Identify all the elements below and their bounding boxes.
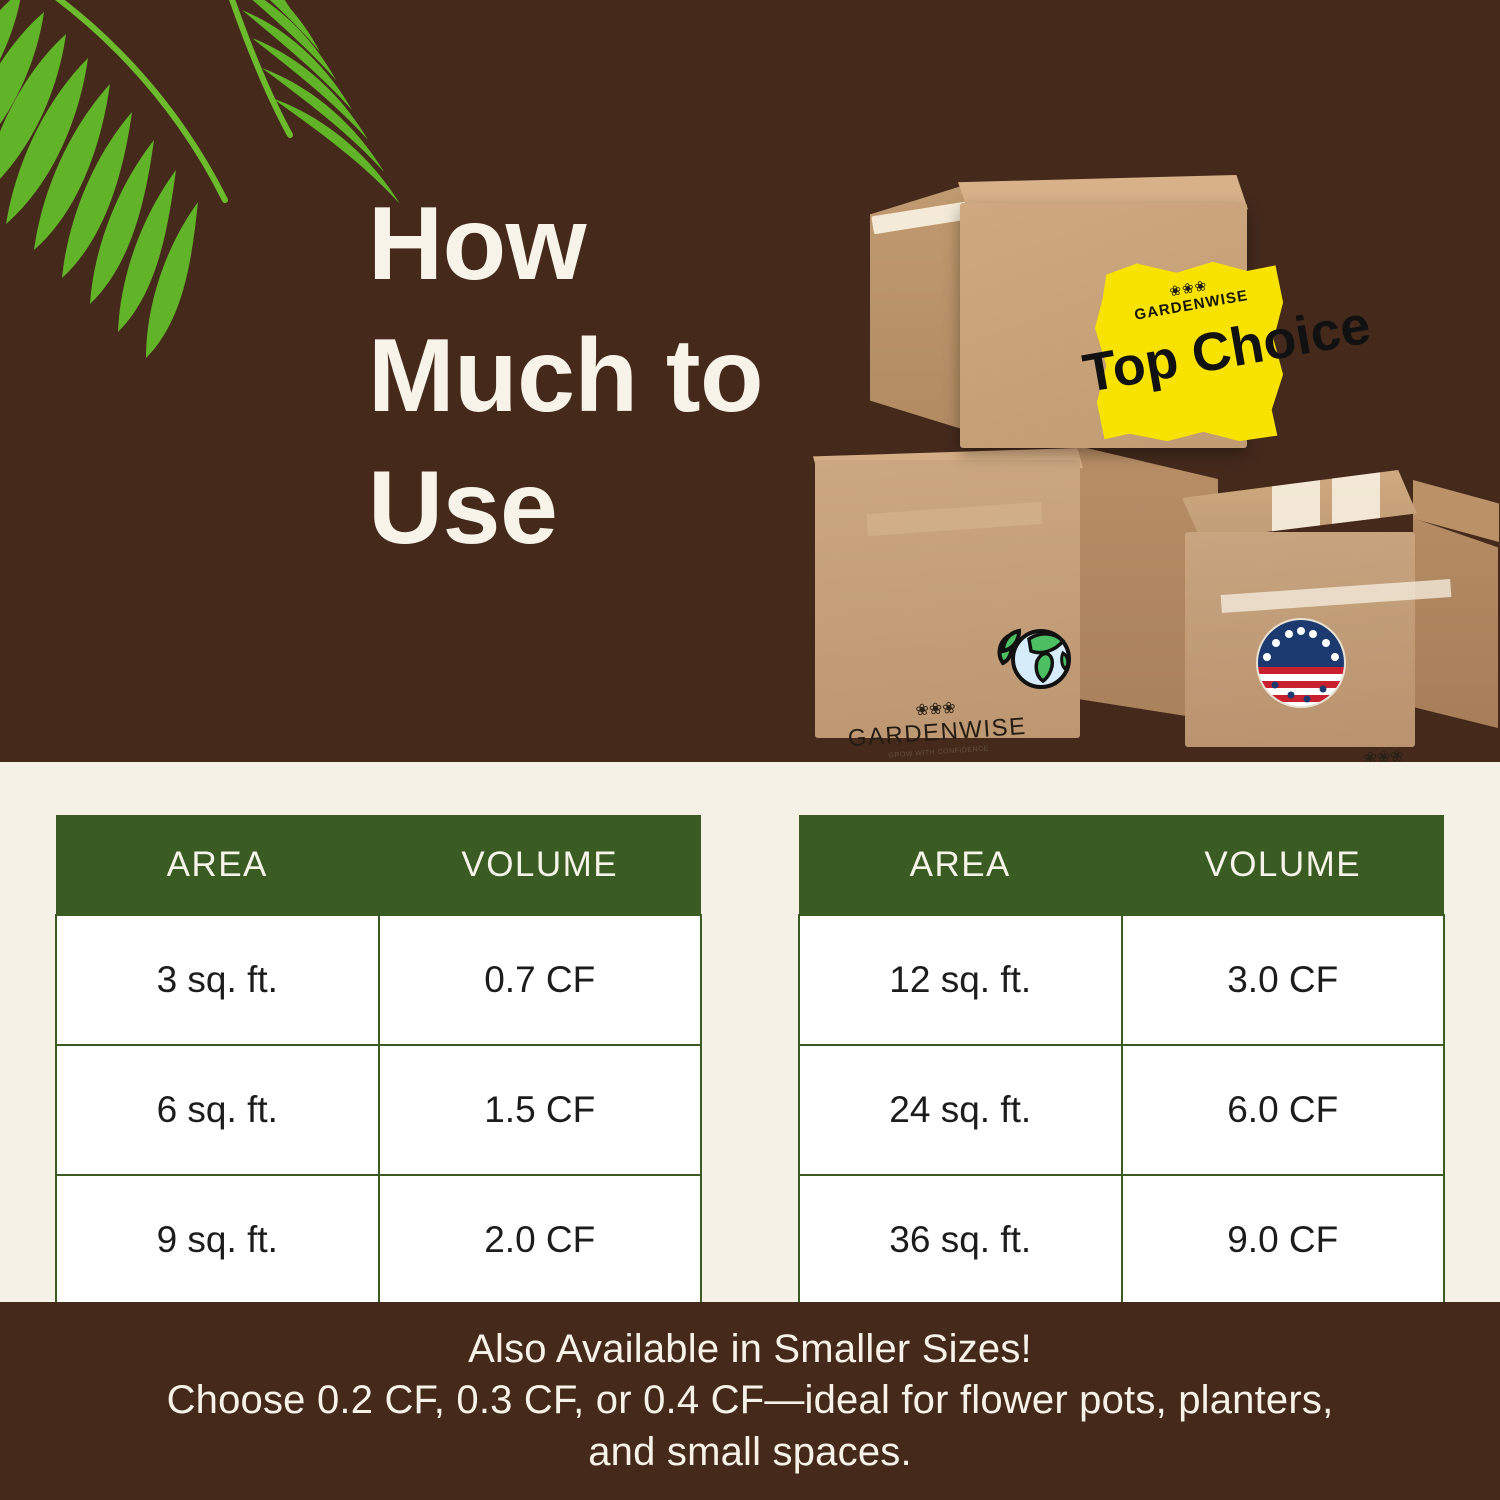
table-row: 36 sq. ft. 9.0 CF (799, 1175, 1444, 1305)
cell-volume: 2.0 CF (379, 1175, 702, 1305)
cell-area: 12 sq. ft. (799, 915, 1122, 1045)
table-row: 3 sq. ft. 0.7 CF (56, 915, 701, 1045)
top-shipping-box: ❀❀❀ GARDENWISE Top Choice (870, 165, 1270, 455)
cell-area: 9 sq. ft. (56, 1175, 379, 1305)
box-lid-face (1182, 470, 1417, 540)
page-title: How Much to Use (368, 178, 788, 574)
box-front-face: ❀❀❀ GARDENWISE GROW WITH CONFIDENCE (815, 460, 1080, 738)
column-header-volume: VOLUME (1122, 815, 1445, 915)
footer-banner: Also Available in Smaller Sizes! Choose … (0, 1302, 1500, 1500)
seedling-icon: ❀❀❀ (1303, 744, 1464, 762)
table-row: 6 sq. ft. 1.5 CF (56, 1045, 701, 1175)
tables-section: AREA VOLUME 3 sq. ft. 0.7 CF 6 sq. ft. 1… (0, 762, 1500, 1302)
packing-tape (1332, 464, 1380, 542)
usa-flag-badge-icon (1255, 617, 1347, 709)
cell-volume: 6.0 CF (1122, 1045, 1445, 1175)
footer-line-3: and small spaces. (588, 1427, 912, 1478)
column-header-volume: VOLUME (379, 815, 702, 915)
box-front-face: ❀❀❀ GARDENWISE Top Choice (960, 203, 1247, 448)
box-side-face (870, 185, 965, 430)
table-header-row: AREA VOLUME (799, 815, 1444, 915)
table-row: 12 sq. ft. 3.0 CF (799, 915, 1444, 1045)
table-row: 24 sq. ft. 6.0 CF (799, 1045, 1444, 1175)
column-header-area: AREA (56, 815, 379, 915)
headline-line-3: Use (368, 442, 788, 574)
box-side-face (1413, 518, 1498, 728)
product-boxes-illustration: ❀❀❀ GARDENWISE GROW WITH CONFIDENCE (795, 140, 1495, 740)
cell-area: 3 sq. ft. (56, 915, 379, 1045)
cell-area: 24 sq. ft. (799, 1045, 1122, 1175)
cell-area: 6 sq. ft. (56, 1045, 379, 1175)
headline-line-2: Much to (368, 310, 788, 442)
area-volume-table-right: AREA VOLUME 12 sq. ft. 3.0 CF 24 sq. ft.… (798, 815, 1445, 1291)
hero-section: How Much to Use (0, 0, 1500, 762)
table-row: 9 sq. ft. 2.0 CF (56, 1175, 701, 1305)
box-front-face: ❀❀❀ GARDENWISE GROW WITH CONFIDENCE (1185, 532, 1415, 747)
palm-leaf-icon (0, 0, 420, 360)
cell-area: 36 sq. ft. (799, 1175, 1122, 1305)
headline-line-1: How (368, 178, 788, 310)
brand-logo-small-box: ❀❀❀ GARDENWISE GROW WITH CONFIDENCE (1303, 744, 1466, 762)
small-shipping-box: ❀❀❀ GARDENWISE GROW WITH CONFIDENCE (1150, 470, 1500, 750)
area-volume-table-left: AREA VOLUME 3 sq. ft. 0.7 CF 6 sq. ft. 1… (55, 815, 702, 1291)
table-header-row: AREA VOLUME (56, 815, 701, 915)
infographic-page: How Much to Use (0, 0, 1500, 1500)
cell-volume: 3.0 CF (1122, 915, 1445, 1045)
earth-leaf-icon (985, 615, 1081, 695)
cell-volume: 9.0 CF (1122, 1175, 1445, 1305)
packing-tape (866, 502, 1042, 536)
footer-line-2: Choose 0.2 CF, 0.3 CF, or 0.4 CF—ideal f… (167, 1375, 1334, 1426)
cell-volume: 1.5 CF (379, 1045, 702, 1175)
cell-volume: 0.7 CF (379, 915, 702, 1045)
column-header-area: AREA (799, 815, 1122, 915)
brand-logo-large-box: ❀❀❀ GARDENWISE GROW WITH CONFIDENCE (845, 696, 1028, 762)
footer-line-1: Also Available in Smaller Sizes! (468, 1324, 1032, 1375)
